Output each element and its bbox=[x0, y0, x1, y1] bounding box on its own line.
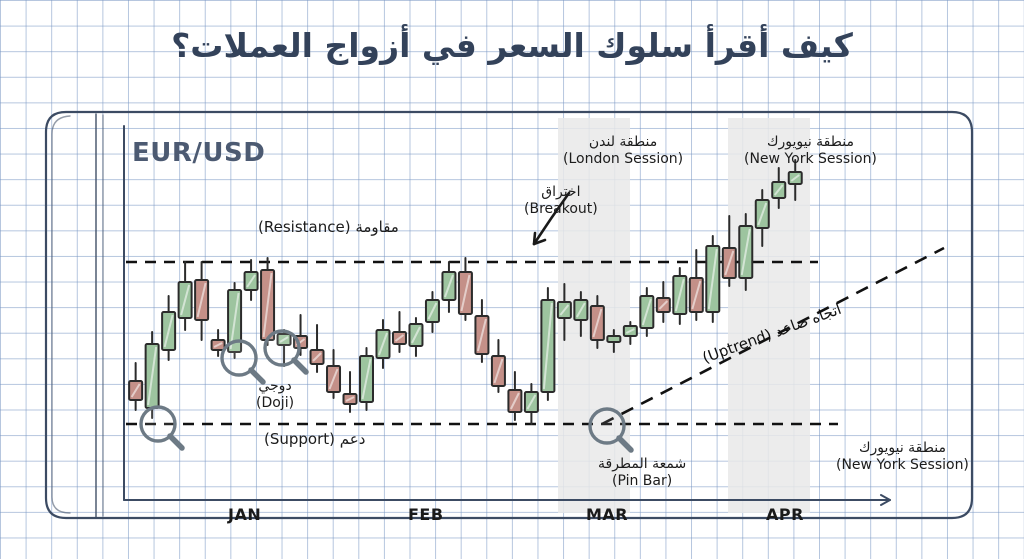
candle-22 bbox=[475, 300, 488, 362]
candle-1 bbox=[129, 363, 142, 410]
candle-30 bbox=[607, 330, 620, 352]
candle-37 bbox=[723, 216, 736, 286]
candle-9 bbox=[261, 258, 274, 345]
annotation-support: دعم (Support) bbox=[264, 430, 365, 448]
annotation-newyork-top-ar: منطقة نيويورك bbox=[744, 134, 877, 151]
candle-34 bbox=[673, 268, 686, 324]
candle-series bbox=[129, 160, 802, 424]
annotation-breakout-en: (Breakout) bbox=[524, 201, 598, 218]
candle-29 bbox=[591, 296, 604, 348]
magnifier-icon-pinbar[interactable] bbox=[590, 409, 631, 450]
annotation-doji-ar: دوجي bbox=[256, 378, 294, 395]
annotation-newyork-session-top: منطقة نيويورك (New York Session) bbox=[744, 134, 877, 168]
candle-12 bbox=[311, 325, 324, 372]
x-tick-feb: FEB bbox=[408, 505, 444, 524]
candle-21 bbox=[459, 258, 472, 320]
annotation-newyork-bottom-en: (New York Session) bbox=[836, 457, 969, 474]
candle-27 bbox=[558, 284, 571, 340]
annotation-pinbar-ar: شمعة المطرقة bbox=[598, 456, 686, 473]
candle-32 bbox=[640, 288, 653, 336]
candle-28 bbox=[574, 292, 587, 336]
candle-31 bbox=[624, 322, 637, 344]
annotation-doji-en: (Doji) bbox=[256, 395, 294, 412]
candle-8 bbox=[245, 260, 258, 300]
candle-33 bbox=[657, 282, 670, 322]
candle-25 bbox=[525, 384, 538, 424]
annotation-pinbar: شمعة المطرقة (Pin Bar) bbox=[598, 456, 686, 490]
candle-35 bbox=[690, 250, 703, 320]
annotation-london-ar: منطقة لندن bbox=[563, 134, 683, 151]
candle-18 bbox=[409, 318, 422, 356]
candle-40 bbox=[772, 168, 785, 208]
candle-15 bbox=[360, 348, 373, 410]
candle-36 bbox=[706, 236, 719, 322]
annotation-pinbar-en: (Pin Bar) bbox=[598, 473, 686, 490]
annotation-doji: دوجي (Doji) bbox=[256, 378, 294, 412]
annotation-london-session: منطقة لندن (London Session) bbox=[563, 134, 683, 168]
candle-17 bbox=[393, 312, 406, 352]
candle-24 bbox=[508, 372, 521, 420]
annotation-breakout-ar: اختراق bbox=[524, 184, 598, 201]
x-tick-jan: JAN bbox=[228, 505, 261, 524]
annotation-london-en: (London Session) bbox=[563, 151, 683, 168]
candlestick-chart: EUR/USD bbox=[118, 118, 906, 503]
annotation-resistance: مقاومة (Resistance) bbox=[258, 218, 399, 236]
magnifier-icon-support[interactable] bbox=[141, 407, 182, 448]
candle-26 bbox=[541, 288, 554, 400]
candle-16 bbox=[376, 320, 389, 368]
candle-23 bbox=[492, 340, 505, 392]
candle-39 bbox=[756, 190, 769, 246]
candle-5 bbox=[195, 262, 208, 340]
x-tick-apr: APR bbox=[766, 505, 804, 524]
candle-19 bbox=[426, 292, 439, 332]
x-axis-month-labels: JAN FEB MAR APR bbox=[118, 505, 906, 535]
annotation-breakout: اختراق (Breakout) bbox=[524, 184, 598, 218]
candle-14 bbox=[344, 372, 357, 412]
x-tick-mar: MAR bbox=[586, 505, 628, 524]
candle-38 bbox=[739, 214, 752, 290]
candle-20 bbox=[442, 262, 455, 312]
candle-3 bbox=[162, 296, 175, 360]
magnifier-icon-candle[interactable] bbox=[222, 341, 263, 382]
candle-2 bbox=[146, 332, 159, 418]
chart-canvas bbox=[118, 118, 906, 513]
candle-4 bbox=[179, 262, 192, 330]
candle-13 bbox=[327, 350, 340, 398]
annotation-newyork-session-bottom: منطقة نيويورك (New York Session) bbox=[836, 440, 969, 474]
annotation-newyork-bottom-ar: منطقة نيويورك bbox=[836, 440, 969, 457]
annotation-newyork-top-en: (New York Session) bbox=[744, 151, 877, 168]
page-title: كيف أقرأ سلوك السعر في أزواج العملات؟ bbox=[0, 26, 1024, 65]
